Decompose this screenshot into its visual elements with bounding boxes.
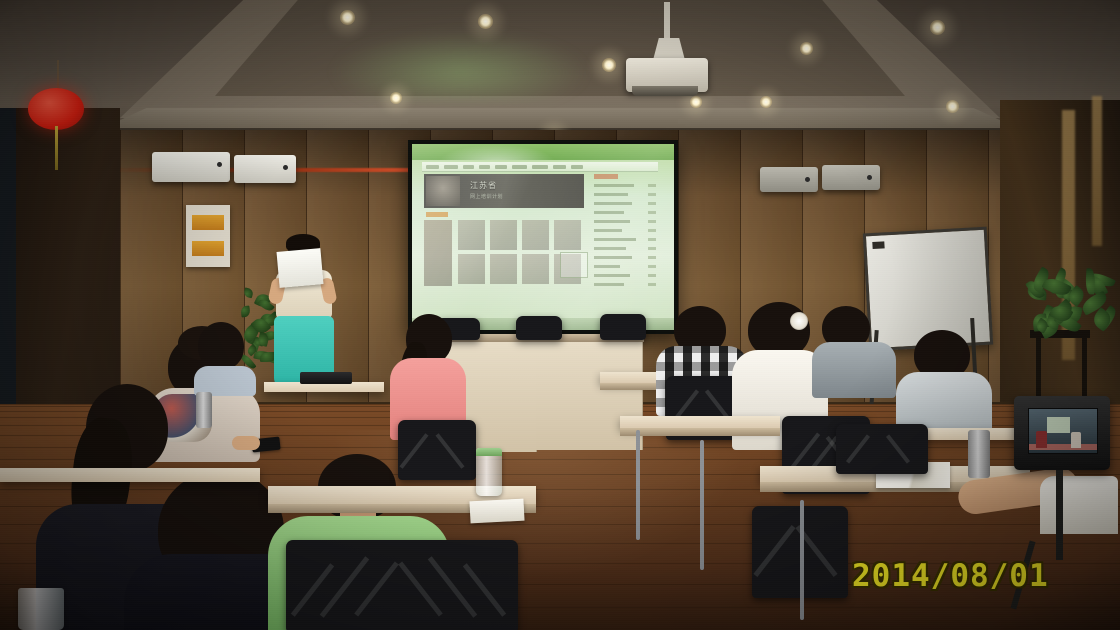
attendee-back-right	[896, 330, 992, 430]
camcorder[interactable]	[1014, 396, 1110, 470]
downlight-13	[760, 96, 772, 108]
chair-leg-right-a	[700, 440, 704, 570]
downlight-3	[340, 10, 355, 25]
downlight-17	[930, 20, 945, 35]
air-conditioner-left-2	[234, 155, 296, 183]
plant-leaf	[243, 287, 254, 299]
glass-jar-front[interactable]	[18, 588, 64, 630]
downlight-19	[800, 42, 813, 55]
air-conditioner-right-2	[822, 165, 880, 190]
laptop-far[interactable]	[300, 372, 352, 384]
chair-far-3[interactable]	[600, 314, 646, 340]
camera-timestamp: 2014/08/01	[852, 558, 1049, 594]
projection-screen: 江苏省 网上培训计划	[408, 140, 678, 334]
air-conditioner-left-1	[152, 152, 230, 182]
presenter-papers	[277, 248, 324, 288]
screen-glare	[412, 144, 674, 330]
plant-leaf	[240, 306, 251, 318]
chair-leg-right-c	[800, 500, 804, 620]
chair-leg-right-b	[636, 430, 640, 540]
downlight-12	[690, 96, 702, 108]
projector-pole	[664, 2, 670, 42]
lantern-tassel	[55, 126, 58, 170]
lcd-projection-screen	[1047, 417, 1070, 433]
potted-plant-right	[1022, 272, 1120, 338]
downlight-5	[390, 92, 402, 104]
wall-plaque	[186, 205, 230, 267]
flower-hair-clip	[790, 312, 808, 330]
attendee-right-sleeve	[1040, 476, 1118, 534]
attendee-floral-hand	[232, 436, 260, 450]
desk-front-left	[0, 468, 260, 482]
air-conditioner-right-1	[760, 167, 818, 192]
chair-front-center[interactable]	[286, 540, 518, 630]
chair-pink[interactable]	[398, 420, 476, 480]
notebook-center[interactable]	[469, 499, 524, 524]
downlight-18	[946, 100, 959, 113]
whiteboard-clip	[872, 241, 884, 249]
chair-right-1[interactable]	[836, 424, 928, 474]
glass-jar-center[interactable]	[476, 448, 502, 496]
lantern-cord	[57, 60, 59, 90]
right-wall-light-strip-2	[1092, 96, 1102, 246]
projector-lens	[632, 86, 698, 96]
downlight-4	[478, 14, 493, 29]
ceiling-green-glow	[330, 30, 590, 100]
camcorder-lcd	[1028, 408, 1098, 454]
plant-leaf	[1085, 268, 1095, 295]
desk-right-mid	[620, 416, 780, 428]
attendee-grey-shirt	[812, 306, 896, 392]
camcorder-tripod-column	[1056, 470, 1063, 560]
downlight-9	[602, 58, 616, 72]
thermos-right[interactable]	[968, 430, 990, 478]
photograph: 江苏省 网上培训计划	[0, 0, 1120, 630]
screen-surface: 江苏省 网上培训计划	[412, 144, 674, 330]
chair-far-2[interactable]	[516, 316, 562, 340]
red-lantern	[28, 88, 84, 130]
desk-right-mid-edge	[620, 428, 780, 436]
